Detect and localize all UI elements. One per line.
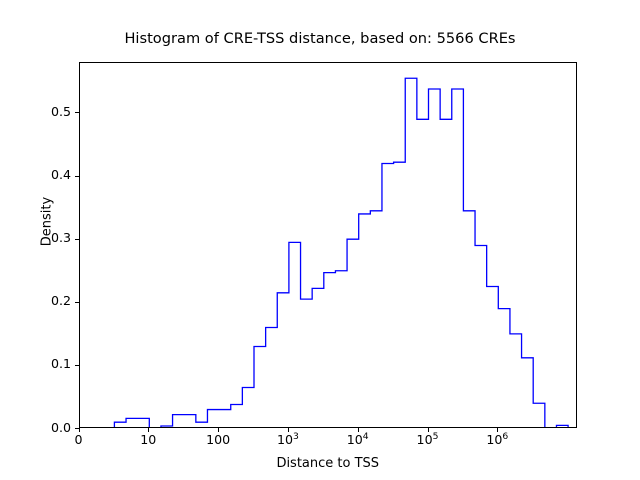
- y-tick-mark: [75, 365, 79, 366]
- histogram-step-line: [80, 63, 577, 427]
- plot-area: [80, 63, 577, 427]
- y-tick-label: 0.0: [51, 422, 71, 435]
- y-tick-mark: [75, 176, 79, 177]
- y-tick-mark: [75, 239, 79, 240]
- x-tick-label: 104: [347, 434, 369, 447]
- y-tick-label: 0.2: [51, 295, 71, 308]
- y-axis-label: Density: [40, 172, 55, 272]
- x-tick-label: 103: [277, 434, 299, 447]
- y-tick-mark: [75, 428, 79, 429]
- y-tick-mark: [75, 112, 79, 113]
- x-tick-label: 10: [140, 434, 156, 447]
- x-tick-label: 106: [486, 434, 508, 447]
- x-tick-label: 0: [74, 434, 82, 447]
- x-axis-label: Distance to TSS: [79, 456, 578, 471]
- page-title: Histogram of CRE-TSS distance, based on:…: [0, 30, 640, 47]
- y-tick-label: 0.5: [51, 106, 71, 119]
- x-tick-label: 105: [417, 434, 439, 447]
- x-tick-label: 100: [206, 434, 230, 447]
- y-tick-mark: [75, 302, 79, 303]
- plot-frame: [79, 62, 578, 428]
- figure-canvas: Histogram of CRE-TSS distance, based on:…: [0, 0, 640, 480]
- y-tick-label: 0.1: [51, 358, 71, 371]
- y-axis-tick-labels: 0.00.10.20.30.40.5: [0, 0, 71, 480]
